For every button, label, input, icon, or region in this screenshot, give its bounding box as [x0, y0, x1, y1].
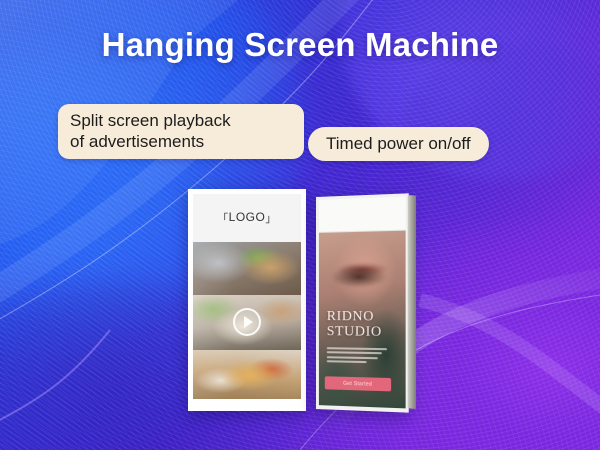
device-right-bezel-top	[319, 197, 406, 233]
ad-body-text-lines	[327, 347, 387, 366]
badge-timed-power: Timed power on/off	[308, 127, 489, 161]
device-right-screen: RIDNO STUDIO Get Started	[319, 231, 406, 409]
food-panel-2	[193, 295, 301, 349]
ad-text-line	[327, 347, 387, 350]
ad-text-line	[327, 360, 366, 363]
ad-text-line	[327, 356, 378, 359]
ad-cta-label: Get Started	[343, 380, 372, 387]
device-left-content-panels	[193, 242, 301, 399]
device-beauty-ad-display[interactable]: RIDNO STUDIO Get Started	[316, 193, 409, 412]
model-eye-image	[324, 245, 398, 305]
ad-brand-line-2: STUDIO	[327, 324, 382, 340]
bracket-open-icon: 「	[217, 213, 229, 225]
food-panel-1	[193, 242, 301, 295]
ad-cta-button[interactable]: Get Started	[325, 376, 391, 391]
bracket-close-icon: 」	[265, 213, 277, 225]
food-panel-3	[193, 350, 301, 399]
play-icon[interactable]	[233, 308, 261, 336]
ad-brand-name: RIDNO STUDIO	[327, 309, 382, 340]
feature-badge-group: Split screen playback of advertisements …	[0, 104, 600, 156]
play-triangle-icon	[244, 316, 253, 328]
device-right-side-edge	[408, 195, 416, 409]
device-split-screen-display[interactable]: 「LOGO」	[188, 189, 306, 411]
banner-stage: Hanging Screen Machine Split screen play…	[0, 0, 600, 450]
page-title: Hanging Screen Machine	[0, 26, 600, 64]
ad-text-line	[327, 351, 382, 354]
badge-split-screen-playback: Split screen playback of advertisements	[58, 104, 304, 159]
device-left-logo-header: 「LOGO」	[193, 194, 301, 242]
logo-text: LOGO	[229, 210, 266, 224]
ad-brand-line-1: RIDNO	[327, 309, 382, 324]
logo-placeholder: 「LOGO」	[217, 210, 277, 226]
